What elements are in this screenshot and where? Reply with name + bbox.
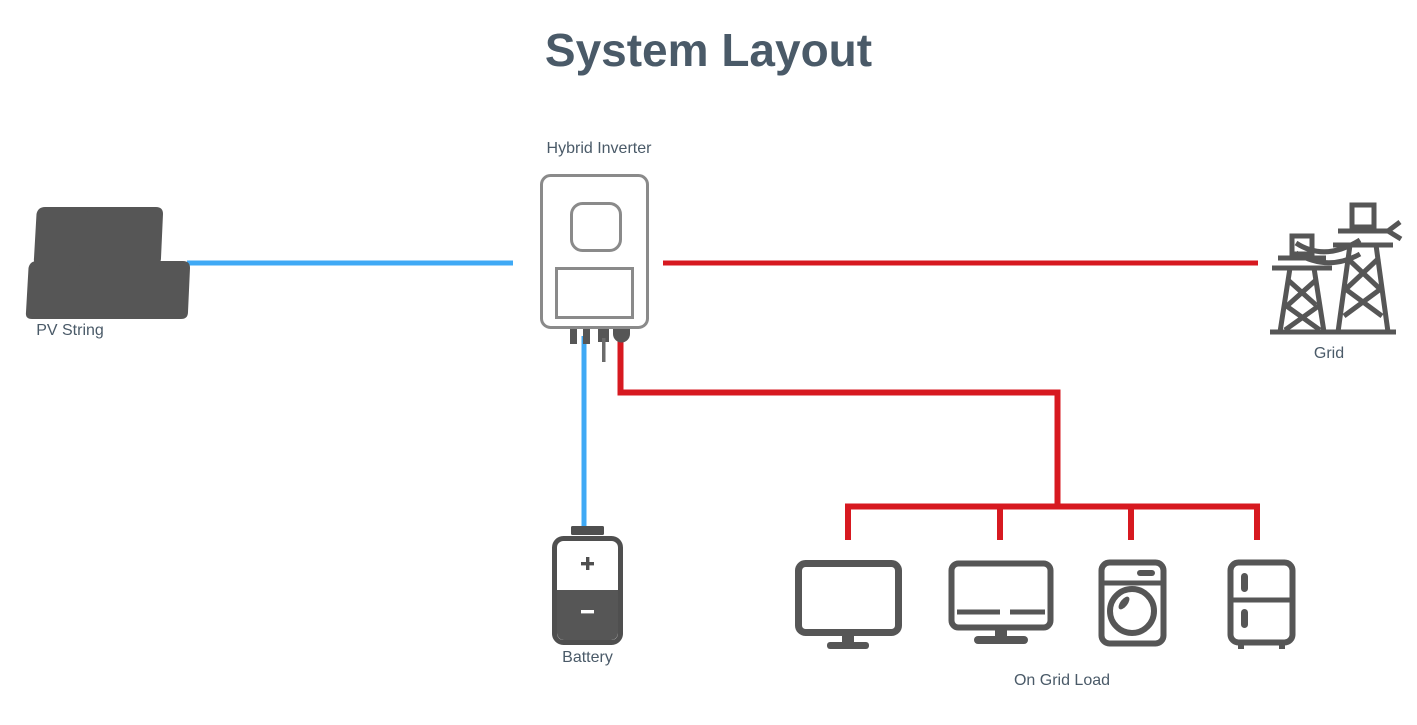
refrigerator-foot-right [1279,641,1285,649]
pv-cell [97,207,163,265]
washing-machine-drum [1110,589,1154,633]
tower-right-crossarm-tip-down [1388,231,1401,239]
tower-left-legs [1280,268,1324,332]
diagram-canvas [0,0,1417,725]
tower-left-bracing-2 [1285,305,1320,330]
washing-machine-icon [1102,563,1164,644]
hybrid-inverter-label: Hybrid Inverter [474,139,724,158]
tower-right-bracing-1 [1347,258,1379,288]
battery-minus-symbol [581,610,594,613]
on-grid-load-label: On Grid Load [942,671,1182,690]
television-base [974,636,1028,644]
solar-panel-icon [26,207,190,319]
television-screen [952,564,1051,628]
refrigerator-handle-lower [1241,609,1248,628]
refrigerator-foot-left [1238,641,1244,649]
monitor-base [827,642,869,649]
battery-label: Battery [515,648,660,667]
refrigerator-icon [1231,563,1293,650]
battery-icon [555,526,621,643]
battery-terminal [571,526,604,535]
grid-label: Grid [1254,344,1404,363]
system-layout-diagram: System Layout [0,0,1417,725]
television-icon [952,564,1051,645]
tower-left-bracing-1 [1288,280,1316,305]
inverter-icon [542,176,648,363]
monitor-screen [799,564,899,633]
inverter-terminal-dc-1 [570,327,577,344]
inverter-display [572,204,621,251]
washing-machine-control-button [1137,570,1155,576]
wire-inverter-to-load [621,336,1261,540]
pv-cell [123,261,190,319]
ac-wire-red-trunk [621,336,1058,507]
battery-charge-fill [557,590,618,640]
inverter-terminal-ac [613,327,630,343]
inverter-panel [557,269,633,318]
inverter-ground-wire [602,338,606,362]
tower-right-bracing-2 [1344,288,1382,316]
inverter-terminal-dc-2 [583,327,590,344]
refrigerator-handle-upper [1241,573,1248,592]
monitor-icon [799,564,899,650]
tower-right-head [1352,205,1374,227]
tower-right [1330,205,1401,332]
pv-string-label: PV String [0,321,140,340]
transmission-tower-icon [1270,205,1401,332]
